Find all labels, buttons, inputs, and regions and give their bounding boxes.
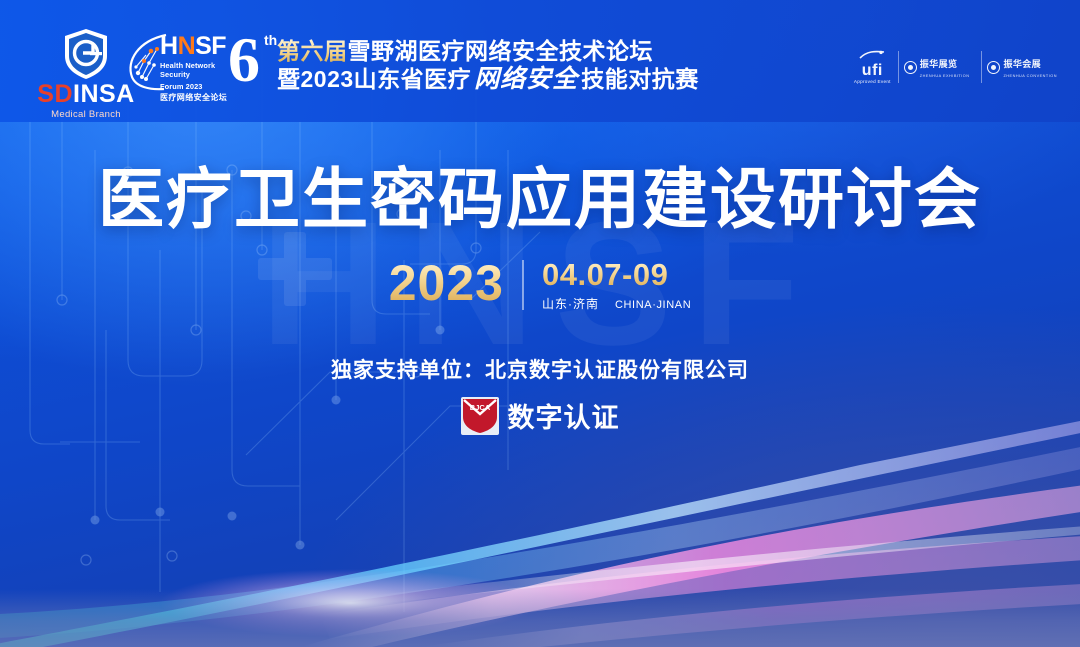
bjca-shield-icon: BJCA (461, 397, 499, 435)
partner-logos: ufi Approved Event 振华展览 ZHENHUA EXHIBITI… (854, 50, 1062, 84)
event-days: 04.07-09 (542, 259, 691, 290)
headline-line1-gold: 第六届 (277, 38, 348, 65)
edition-number: 6 (228, 24, 260, 95)
sdinsa-subtitle: Medical Branch (30, 109, 142, 120)
zhenhua-swirl-icon (987, 61, 1000, 74)
hnsf-wordmark: HNSF (160, 34, 236, 59)
sponsor-logo[interactable]: BJCA 数字认证 (0, 396, 1080, 435)
conference-banner: HNSF SDINSA Medical Branch (0, 0, 1080, 647)
headline-line2-part-a: 暨2023山东省医疗 (277, 66, 471, 93)
ufi-subtitle: Approved Event (854, 79, 891, 84)
date-divider (522, 260, 524, 310)
headline-line1-white: 雪野湖医疗网络安全技术论坛 (348, 38, 654, 65)
logo-ufi[interactable]: ufi Approved Event (854, 50, 891, 84)
headline-line2-script: 网络安全 (471, 65, 581, 95)
event-year: 2023 (389, 258, 504, 308)
logo-hnsf[interactable]: HNSF Health Network Security Forum 2023 … (124, 33, 236, 91)
partner-1-name: 振华展览 (920, 59, 958, 69)
hnsf-letters-sf: SF (195, 32, 226, 60)
partner-2-english: ZHENHUA CONVENTION (1003, 74, 1057, 79)
event-place-cn: 山东·济南 (542, 295, 599, 312)
sdinsa-word-red: SD (37, 80, 73, 108)
floor-gradient (0, 589, 1080, 647)
header: SDINSA Medical Branch HNSF Health Networ… (0, 0, 1080, 122)
hnsf-english-line2: Forum 2023 (160, 82, 236, 91)
sponsor-line: 独家支持单位：北京数字认证股份有限公司 (0, 354, 1080, 384)
page-title: 医疗卫生密码应用建设研讨会 (0, 163, 1080, 236)
partner-2-name: 振华会展 (1003, 59, 1041, 69)
sponsor-logo-name: 数字认证 (508, 396, 620, 435)
logo-partner-1[interactable]: 振华展览 ZHENHUA EXHIBITION (898, 51, 975, 82)
zhenhua-swirl-icon (904, 61, 917, 74)
shield-caduceus-icon (63, 28, 109, 80)
event-date-block: 2023 04.07-09 山东·济南 CHINA·JINAN (0, 258, 1080, 312)
hnsf-chinese-line: 医疗网络安全论坛 (160, 92, 236, 103)
svg-text:BJCA: BJCA (469, 403, 490, 412)
logo-partner-2[interactable]: 振华会展 ZHENHUA CONVENTION (981, 51, 1062, 82)
headline-line2-part-c: 技能对抗赛 (581, 66, 699, 93)
hnsf-english-line1: Health Network Security (160, 61, 236, 80)
partner-1-english: ZHENHUA EXHIBITION (920, 74, 970, 79)
event-place-en: CHINA·JINAN (615, 299, 691, 311)
light-ribbons-graphic (0, 347, 1080, 647)
hnsf-letter-h: H (160, 32, 178, 60)
ufi-wordmark: ufi (854, 63, 891, 79)
headline-line-1: 第六届 雪野湖医疗网络安全技术论坛 (277, 38, 699, 65)
hnsf-letter-n: N (178, 32, 196, 60)
headline-line-2: 暨2023山东省医疗 网络安全 技能对抗赛 (277, 65, 699, 95)
edition-ordinal: th (264, 32, 277, 48)
header-headline: 第六届 雪野湖医疗网络安全技术论坛 暨2023山东省医疗 网络安全 技能对抗赛 (277, 38, 699, 95)
